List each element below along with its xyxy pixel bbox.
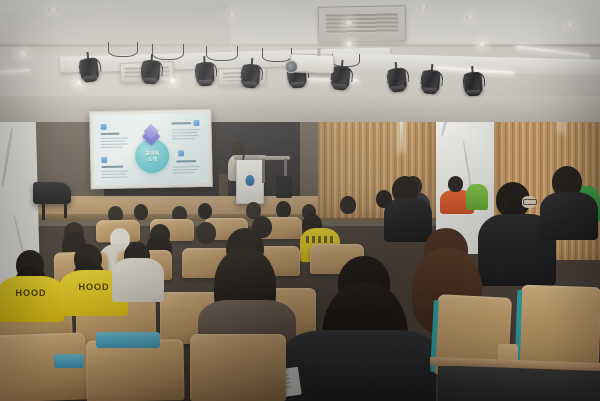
audience-head-far-2 <box>134 204 148 220</box>
seat-foreground-2 <box>85 339 184 401</box>
eyeglasses-icon <box>523 199 537 205</box>
audience-green-jacket <box>466 184 488 210</box>
audience-body-right-3 <box>384 198 432 242</box>
seat-cushion-1 <box>96 332 160 348</box>
slide-icon-top-left <box>100 124 106 130</box>
downlight-6 <box>418 4 428 11</box>
audience-head-far-8 <box>340 196 356 214</box>
stage-spotlight-2 <box>139 53 163 84</box>
jacket-text-1: HOOD <box>4 288 58 300</box>
soffit-edge <box>0 44 600 47</box>
slide-icon-bottom-right <box>178 150 184 156</box>
stage-spotlight-3 <box>193 55 217 86</box>
audience-head-far-4 <box>198 203 212 219</box>
audience-hoodie <box>112 258 164 302</box>
seat-cushion-2 <box>54 354 84 368</box>
downlight-3 <box>228 12 237 18</box>
audience-head-mid-4 <box>196 222 216 244</box>
downlight-5 <box>345 41 353 47</box>
slide-icon-top-right <box>193 120 199 126</box>
seat-foreground-3 <box>190 334 286 401</box>
downlight-1 <box>48 6 59 13</box>
aisle-floor <box>438 366 600 401</box>
slide-heading-top-left <box>101 133 120 135</box>
stage-spotlight-1 <box>76 51 101 83</box>
piano-leg-2 <box>64 202 67 218</box>
audience-head-far-11 <box>448 176 463 192</box>
downlight-2 <box>17 50 29 58</box>
slide-heading-bottom-right <box>176 160 196 162</box>
grand-piano <box>33 182 71 204</box>
table-leg <box>262 159 265 183</box>
audience-body-right-2 <box>540 192 598 240</box>
slide-heading-top-right <box>171 122 191 124</box>
downlight-7 <box>466 14 475 20</box>
auditorium-photo: 교과목 소개 <box>0 0 600 401</box>
audience-head-far-6 <box>276 201 291 218</box>
slide-icon-bottom-left <box>101 157 107 163</box>
downlight-8 <box>478 41 486 47</box>
stage-spotlight-4 <box>239 57 264 89</box>
stage-speaker <box>276 176 292 198</box>
light-cable-1 <box>108 42 138 57</box>
projection-screen: 교과목 소개 <box>89 109 213 190</box>
audience-body-foreground <box>286 330 436 401</box>
jacket-lettering-mid <box>306 236 334 243</box>
stage-spotlight-8 <box>419 63 444 95</box>
stage-spotlight-9 <box>461 65 485 96</box>
downlight-9 <box>566 22 574 28</box>
presentation-slide: 교과목 소개 <box>93 113 208 185</box>
slide-center-text: 교과목 소개 <box>135 152 169 165</box>
downlight-10 <box>168 78 177 84</box>
ceiling-ac-unit <box>318 5 407 43</box>
downlight-4 <box>344 20 353 26</box>
stage-spotlight-7 <box>385 61 410 93</box>
piano-leg <box>42 202 45 220</box>
slide-center-line2: 소개 <box>135 158 169 165</box>
ceiling-projector <box>290 53 335 74</box>
stage-chair <box>219 174 228 196</box>
podium <box>236 158 264 204</box>
